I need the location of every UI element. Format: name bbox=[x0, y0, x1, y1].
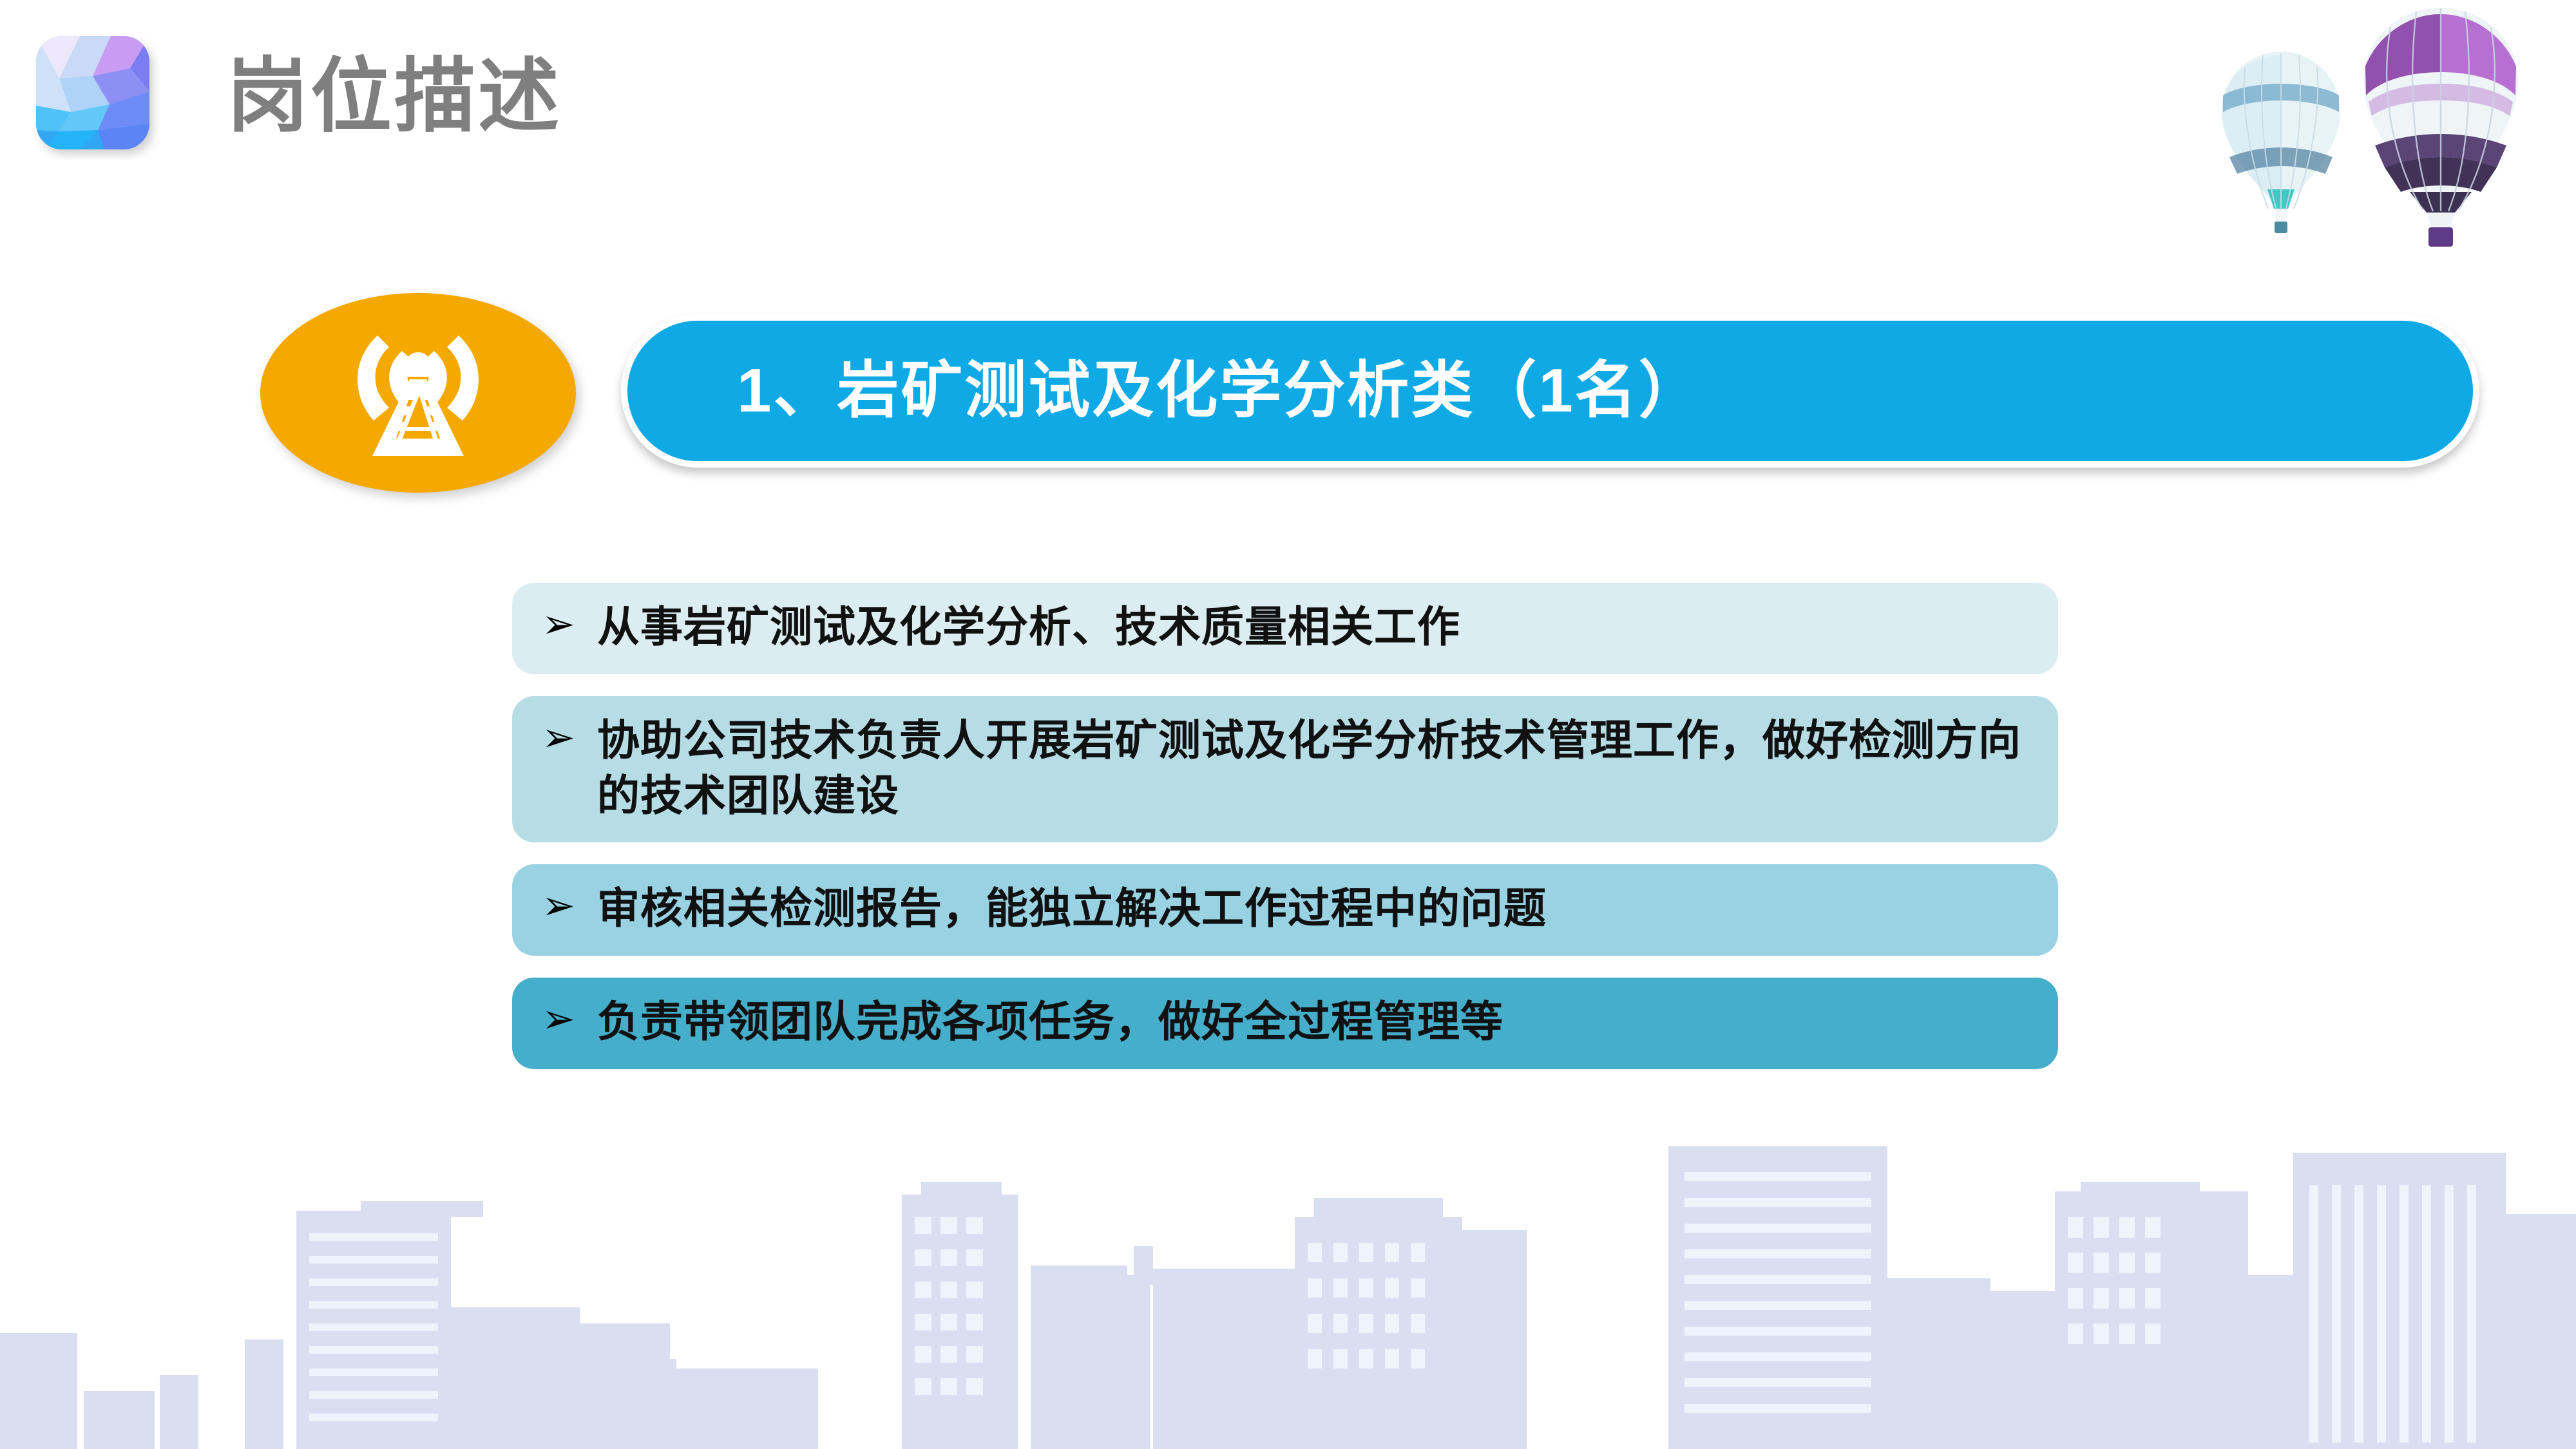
list-item[interactable]: ➢ 审核相关检测报告，能独立解决工作过程中的问题 bbox=[512, 864, 2058, 956]
slide-root: 岗位描述 bbox=[0, 0, 2576, 1449]
arrow-bullet-icon: ➢ bbox=[542, 600, 575, 649]
hot-air-balloons-decoration bbox=[2183, 5, 2570, 282]
list-item[interactable]: ➢ 从事岩矿测试及化学分析、技术质量相关工作 bbox=[512, 583, 2058, 674]
hot-air-balloon-small bbox=[2222, 52, 2340, 233]
list-item[interactable]: ➢ 负责带领团队完成各项任务，做好全过程管理等 bbox=[512, 978, 2058, 1069]
section-banner-label: 1、岩矿测试及化学分析类（1名） bbox=[737, 360, 1703, 422]
list-item-text: 负责带领团队完成各项任务，做好全过程管理等 bbox=[597, 994, 1503, 1050]
section-banner-pill[interactable]: 1、岩矿测试及化学分析类（1名） bbox=[621, 314, 2479, 468]
page-title: 岗位描述 bbox=[227, 56, 562, 137]
list-item-text: 协助公司技术负责人开展岩矿测试及化学分析技术管理工作，做好检测方向的技术团队建设 bbox=[597, 713, 2032, 824]
radio-tower-icon bbox=[260, 293, 576, 493]
city-skyline-silhouette bbox=[0, 1146, 2576, 1449]
list-item[interactable]: ➢ 协助公司技术负责人开展岩矿测试及化学分析技术管理工作，做好检测方向的技术团队… bbox=[512, 696, 2058, 843]
list-item-text: 审核相关检测报告，能独立解决工作过程中的问题 bbox=[597, 881, 1547, 936]
arrow-bullet-icon: ➢ bbox=[542, 713, 575, 762]
arrow-bullet-icon: ➢ bbox=[542, 881, 575, 930]
hot-air-balloon-large bbox=[2363, 8, 2518, 247]
section-banner: 1、岩矿测试及化学分析类（1名） bbox=[260, 293, 2222, 493]
slide-header: 岗位描述 bbox=[33, 33, 562, 160]
polygon-gem-app-icon bbox=[33, 33, 160, 160]
arrow-bullet-icon: ➢ bbox=[542, 994, 575, 1043]
responsibility-list: ➢ 从事岩矿测试及化学分析、技术质量相关工作 ➢ 协助公司技术负责人开展岩矿测试… bbox=[512, 583, 2058, 1091]
list-item-text: 从事岩矿测试及化学分析、技术质量相关工作 bbox=[597, 600, 1460, 655]
